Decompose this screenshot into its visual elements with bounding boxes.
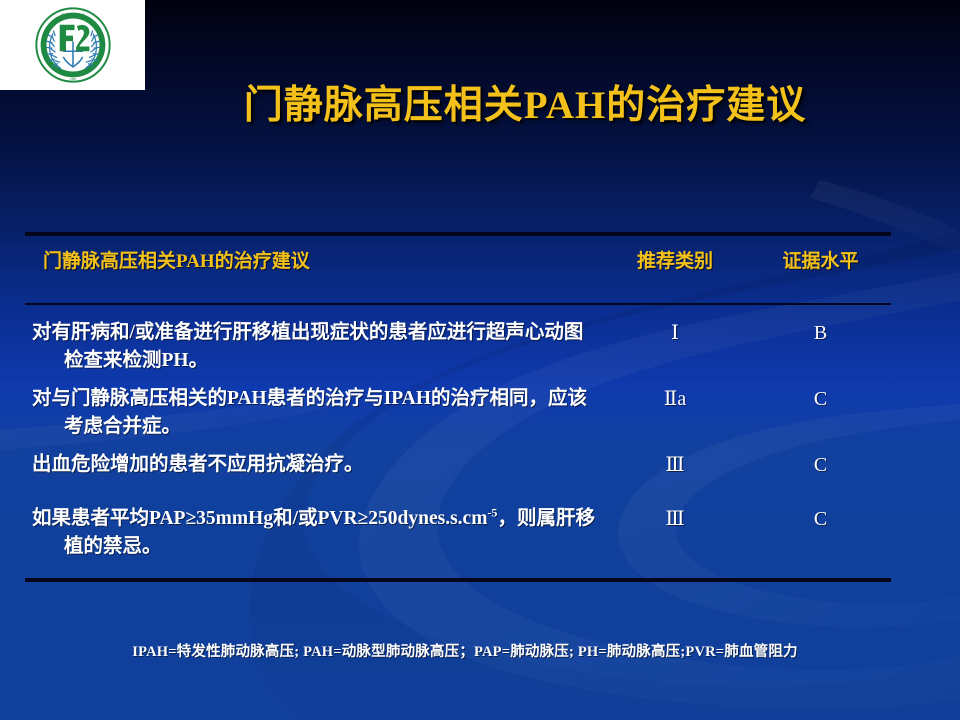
page-title: 门静脉高压相关PAH的治疗建议 bbox=[0, 82, 960, 130]
row-recommendation-class: Ⅱa bbox=[600, 385, 750, 413]
row-description-prefix: 如果患者平均PAP≥35mmHg和/或PVR≥250dynes.s.cm bbox=[32, 508, 487, 529]
table-bottom-rule bbox=[25, 578, 891, 582]
university-logo-container: ※ ※ ※ ※ ※ ※ ※ 1956 bbox=[0, 0, 145, 90]
row-recommendation-class: Ⅲ bbox=[600, 505, 750, 533]
header-cell-recommendation-class: 推荐类别 bbox=[600, 246, 750, 273]
row-description: 出血危险增加的患者不应用抗凝治疗。 bbox=[25, 451, 600, 479]
table-header-row: 门静脉高压相关PAH的治疗建议 推荐类别 证据水平 bbox=[25, 236, 891, 303]
row-evidence-level: C bbox=[750, 451, 891, 479]
row-evidence-level: C bbox=[750, 385, 891, 413]
header-cell-evidence-level: 证据水平 bbox=[750, 246, 891, 273]
table-row: 对与门静脉高压相关的PAH患者的治疗与IPAH的治疗相同，应该考虑合并症。 Ⅱa… bbox=[25, 385, 891, 441]
table-row: 对有肝病和/或准备进行肝移植出现症状的患者应进行超声心动图检查来检测PH。 Ⅰ … bbox=[25, 319, 891, 375]
header-cell-description: 门静脉高压相关PAH的治疗建议 bbox=[25, 246, 600, 273]
row-recommendation-class: Ⅲ bbox=[600, 451, 750, 479]
row-evidence-level: C bbox=[750, 505, 891, 533]
table-row: 如果患者平均PAP≥35mmHg和/或PVR≥250dynes.s.cm-5，则… bbox=[25, 505, 891, 561]
table-body: 对有肝病和/或准备进行肝移植出现症状的患者应进行超声心动图检查来检测PH。 Ⅰ … bbox=[25, 305, 891, 561]
abbreviations-footnote: IPAH=特发性肺动脉高压; PAH=动脉型肺动脉高压；PAP=肺动脉压; PH… bbox=[0, 640, 960, 661]
row-evidence-level: B bbox=[750, 319, 891, 347]
table-row: 出血危险增加的患者不应用抗凝治疗。 Ⅲ C bbox=[25, 451, 891, 479]
svg-text:1956: 1956 bbox=[69, 77, 76, 81]
row-description: 对有肝病和/或准备进行肝移植出现症状的患者应进行超声心动图检查来检测PH。 bbox=[25, 319, 600, 375]
row-recommendation-class: Ⅰ bbox=[600, 319, 750, 347]
row-description: 如果患者平均PAP≥35mmHg和/或PVR≥250dynes.s.cm-5，则… bbox=[25, 505, 600, 561]
university-emblem-icon: ※ ※ ※ ※ ※ ※ ※ 1956 bbox=[34, 6, 112, 84]
svg-text:※ ※ ※ ※ ※ ※ ※: ※ ※ ※ ※ ※ ※ ※ bbox=[61, 12, 85, 16]
row-description-superscript: -5 bbox=[487, 506, 497, 520]
slide-canvas: ※ ※ ※ ※ ※ ※ ※ 1956 门静脉高压相关PAH的治疗建议 门静脉高压… bbox=[0, 0, 960, 720]
recommendations-table: 门静脉高压相关PAH的治疗建议 推荐类别 证据水平 对有肝病和/或准备进行肝移植… bbox=[25, 232, 891, 561]
row-description: 对与门静脉高压相关的PAH患者的治疗与IPAH的治疗相同，应该考虑合并症。 bbox=[25, 385, 600, 441]
